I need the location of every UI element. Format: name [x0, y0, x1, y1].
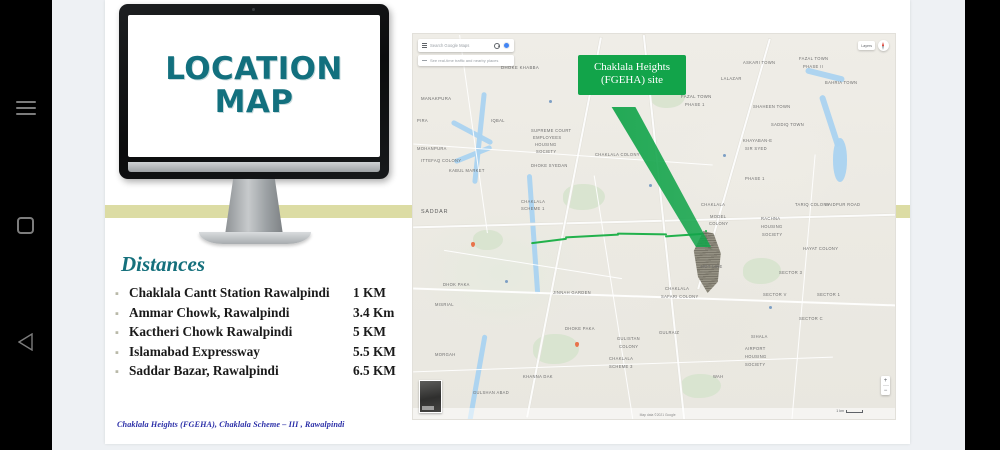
page-title: LOCATION MAP: [165, 53, 343, 119]
map-place-label: KHANNA DAK: [523, 374, 553, 379]
map-place-label: MISRIAL: [435, 302, 454, 307]
map-place-label: LALAZAR: [721, 76, 742, 81]
map-place-label: SIR SYED: [745, 146, 767, 151]
map-place-label: SECTOR V: [763, 292, 787, 297]
map-scale-bar: 1 km: [836, 409, 863, 413]
back-triangle: [18, 333, 34, 351]
map-place-label: DHOKE SYEDAN: [531, 163, 568, 168]
map-place-label: HAYAT COLONY: [803, 246, 838, 251]
list-item: ▪Kactheri Chowk Rawalpindi5 KM: [115, 324, 415, 340]
map-search-bar[interactable]: Search Google Maps: [418, 39, 514, 52]
map-place-label: SAIDPUR ROAD: [825, 202, 860, 207]
compass-icon[interactable]: [878, 40, 889, 51]
google-map-image[interactable]: MANAKPURAPIRADHOKE KHABBAMOHANPURAITTEFA…: [412, 33, 896, 420]
map-place-label: MOHANPURA: [417, 146, 447, 151]
bullet-icon: ▪: [115, 328, 129, 339]
map-place-label: COLONY: [709, 221, 728, 226]
list-item: ▪Saddar Bazar, Rawalpindi6.5 KM: [115, 363, 415, 379]
map-place-label: SECTOR 1: [817, 292, 840, 297]
bullet-icon: ▪: [115, 289, 129, 300]
map-place-label: CHAKLALA: [701, 202, 725, 207]
map-place-label: PHASE II: [803, 64, 823, 69]
monitor-illustration: LOCATION MAP: [119, 4, 398, 254]
back-icon[interactable]: [13, 329, 39, 355]
bullet-icon: ▪: [115, 348, 129, 359]
bullet-icon: ▪: [115, 309, 129, 320]
map-place-label: PHASE 1: [685, 102, 705, 107]
poi-dot[interactable]: [505, 280, 508, 283]
map-place-label: SADDIQ TOWN: [771, 122, 804, 127]
site-callout-label: Chaklala Heights (FGEHA) site: [578, 55, 686, 95]
distance-name: Islamabad Expressway: [129, 344, 353, 360]
android-navigation-bar: [0, 0, 52, 450]
distances-list: ▪Chaklala Cantt Station Rawalpindi1 KM▪A…: [115, 285, 415, 379]
poi-dot[interactable]: [549, 100, 552, 103]
map-place-label: DHOKE PAKA: [565, 326, 595, 331]
list-item: ▪Chaklala Cantt Station Rawalpindi1 KM: [115, 285, 415, 301]
zoom-out-button[interactable]: −: [881, 386, 890, 395]
map-place-label: MODEL: [710, 214, 726, 219]
map-place-label: EMPLOYEES: [533, 135, 561, 140]
layers-button[interactable]: Layers: [858, 41, 875, 50]
webcam-icon: [252, 8, 255, 11]
distance-value: 5 KM: [353, 324, 415, 340]
map-place-label: DHOK PAKA: [443, 282, 470, 287]
map-place-label: GULISTAN: [617, 336, 640, 341]
traffic-suggestion-chip[interactable]: See real-time traffic and nearby places: [418, 55, 514, 66]
account-avatar[interactable]: [503, 42, 510, 49]
distances-heading: Distances: [121, 252, 415, 277]
recents-icon[interactable]: [13, 95, 39, 121]
map-place-label: SIHALA: [751, 334, 768, 339]
map-place-label: COLONY: [619, 344, 638, 349]
map-place-label: CHAKLALA: [665, 286, 689, 291]
slide-footer: Chaklala Heights (FGEHA), Chaklala Schem…: [117, 420, 345, 429]
map-place-label: JINNAH GARDEN: [553, 290, 591, 295]
presentation-slide: LOCATION MAP Distances ▪Chaklala Cantt S…: [105, 0, 910, 444]
monitor-stand-base: [199, 232, 311, 244]
map-place-label: PIRA: [417, 118, 428, 123]
map-place-label: FAZAL TOWN: [681, 94, 712, 99]
map-place-label: SOCIETY: [762, 232, 782, 237]
map-place-label: CHAKLALA: [521, 199, 545, 204]
map-place-label: IQBAL: [491, 118, 505, 123]
list-item: ▪Ammar Chowk, Rawalpindi3.4 Km: [115, 305, 415, 321]
map-place-label: SECTOR 3: [779, 270, 802, 275]
distances-section: Distances ▪Chaklala Cantt Station Rawalp…: [115, 252, 415, 383]
poi-dot[interactable]: [649, 184, 652, 187]
distance-value: 6.5 KM: [353, 363, 415, 379]
home-icon[interactable]: [13, 212, 39, 238]
map-place-label: KABUL MARKET: [449, 168, 485, 173]
distance-name: Saddar Bazar, Rawalpindi: [129, 363, 353, 379]
map-place-label: HOUSING: [761, 224, 783, 229]
traffic-icon: [422, 58, 427, 63]
map-place-label: GULSHAN ABAD: [473, 390, 509, 395]
map-place-label: SCHEME 3: [609, 364, 633, 369]
map-place-label: FAZAL TOWN: [799, 56, 828, 61]
map-place-label: MORGAH: [435, 352, 456, 357]
map-place-label: SAFARI COLONY: [661, 294, 699, 299]
map-place-label: GULRAIZ: [659, 330, 679, 335]
callout-line-1: Chaklala Heights: [582, 61, 682, 74]
map-place-label: MANAKPURA: [421, 96, 451, 101]
map-place-label: CHAKLALA COLONY: [595, 152, 640, 157]
map-place-label: SUPREME COURT: [531, 128, 571, 133]
bullet-icon: ▪: [115, 367, 129, 378]
map-place-label: HOUSING: [535, 142, 557, 147]
map-place-label: BAHRIA TOWN: [825, 80, 857, 85]
monitor-screen: LOCATION MAP: [128, 15, 380, 157]
map-place-label: WAH: [713, 374, 723, 379]
distance-value: 5.5 KM: [353, 344, 415, 360]
map-place-label: SHAHEEN TOWN: [753, 104, 791, 109]
title-line-2: MAP: [165, 86, 343, 119]
map-top-right-controls[interactable]: Layers: [858, 40, 889, 51]
monitor-bezel: LOCATION MAP: [119, 4, 389, 179]
map-place-label: SCHEME 1: [521, 206, 545, 211]
zoom-in-button[interactable]: +: [881, 376, 890, 385]
distance-name: Kactheri Chowk Rawalpindi: [129, 324, 353, 340]
map-place-label: KHAYABAN-E: [743, 138, 772, 143]
hamburger-icon[interactable]: [422, 43, 427, 48]
map-place-label: AIRPORT: [745, 346, 766, 351]
search-input[interactable]: Search Google Maps: [430, 43, 491, 48]
map-place-label: HOUSING: [745, 354, 767, 359]
traffic-chip-label: See real-time traffic and nearby places: [430, 58, 498, 63]
monitor-stand-neck: [225, 179, 283, 235]
zoom-controls[interactable]: + −: [881, 376, 890, 395]
map-place-label: SOCIETY: [536, 149, 556, 154]
map-place-label: ITTEFAQ COLONY: [421, 158, 461, 163]
poi-dot[interactable]: [723, 154, 726, 157]
street-view-thumbnail[interactable]: [419, 380, 442, 413]
map-place-label: SADDAR: [421, 209, 448, 215]
distance-value: 1 KM: [353, 285, 415, 301]
lake: [833, 138, 847, 182]
map-place-label: CHAKLALA: [609, 356, 633, 361]
list-item: ▪Islamabad Expressway5.5 KM: [115, 344, 415, 360]
scale-line: [846, 410, 863, 413]
distance-name: Chaklala Cantt Station Rawalpindi: [129, 285, 353, 301]
search-icon[interactable]: [494, 43, 500, 49]
distance-name: Ammar Chowk, Rawalpindi: [129, 305, 353, 321]
callout-line-2: (FGEHA) site: [582, 74, 682, 87]
title-line-1: LOCATION: [165, 53, 343, 86]
map-place-label: PHASE 1: [745, 176, 765, 181]
map-place-label: SECTOR C: [799, 316, 823, 321]
scale-label: 1 km: [836, 409, 844, 413]
poi-dot[interactable]: [769, 306, 772, 309]
map-place-label: HOT LINE: [701, 264, 723, 269]
map-attribution: Map data ©2021 Google: [640, 413, 676, 417]
map-place-label: ASKARI TOWN: [743, 60, 775, 65]
map-place-label: SOCIETY: [745, 362, 765, 367]
screen: LOCATION MAP Distances ▪Chaklala Cantt S…: [0, 0, 1000, 450]
map-place-label: RACHNA: [761, 216, 780, 221]
monitor-chin: [128, 162, 380, 172]
distance-value: 3.4 Km: [353, 305, 415, 321]
